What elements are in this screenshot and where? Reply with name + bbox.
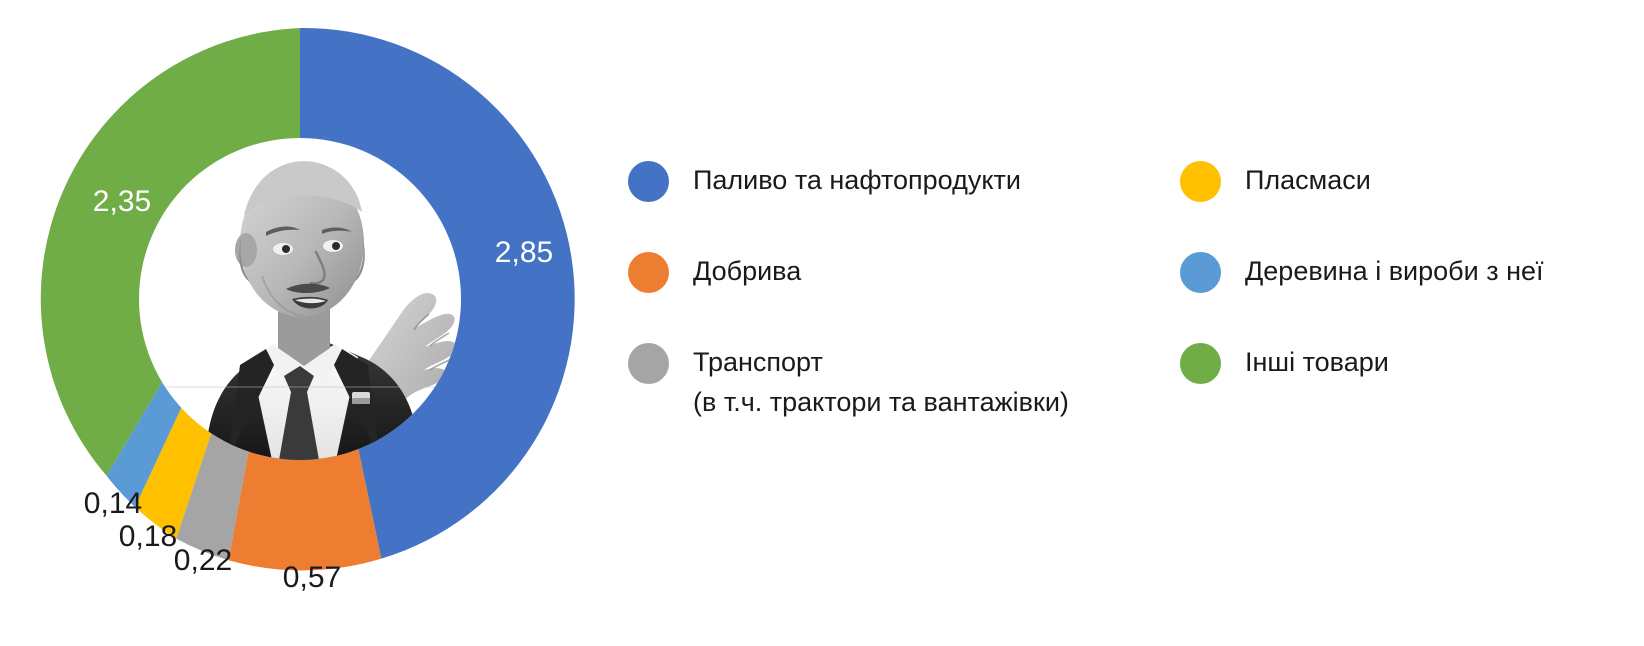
legend-dot-plastics [1180,161,1221,202]
legend-dot-transport [628,343,669,384]
value-label-fuel: 2,85 [495,236,553,269]
legend-item-wood[interactable]: Деревина і вироби з неї [1180,251,1544,293]
legend-item-other[interactable]: Інші товари [1180,342,1389,384]
legend-label-plastics: Пласмаси [1245,160,1371,201]
legend-label-fertilizers: Добрива [693,251,801,292]
chart-legend: Паливо та нафтопродукти Добрива Транспор… [628,150,1638,450]
value-label-other: 2,35 [93,185,151,218]
legend-label-wood: Деревина і вироби з неї [1245,251,1544,292]
legend-dot-other [1180,343,1221,384]
donut-chart: 2,85 2,35 0,57 0,22 0,18 0,14 [0,0,620,646]
value-label-fertilizers: 0,57 [283,561,341,594]
legend-dot-wood [1180,252,1221,293]
legend-item-transport[interactable]: Транспорт (в т.ч. трактори та вантажівки… [628,342,1069,422]
legend-label-fuel: Паливо та нафтопродукти [693,160,1021,201]
value-label-plastics: 0,18 [119,520,177,553]
value-label-wood: 0,14 [84,487,142,520]
value-label-transport: 0,22 [174,544,232,577]
legend-label-transport-line1: Транспорт [693,342,1069,383]
legend-label-other: Інші товари [1245,342,1389,383]
chart-page: 2,85 2,35 0,57 0,22 0,18 0,14 Паливо та … [0,0,1644,646]
legend-label-transport: Транспорт (в т.ч. трактори та вантажівки… [693,342,1069,422]
legend-item-plastics[interactable]: Пласмаси [1180,160,1371,202]
legend-dot-fuel [628,161,669,202]
donut-chart-svg: 2,85 2,35 0,57 0,22 0,18 0,14 [0,0,620,646]
legend-item-fertilizers[interactable]: Добрива [628,251,801,293]
legend-item-fuel[interactable]: Паливо та нафтопродукти [628,160,1021,202]
legend-label-transport-line2: (в т.ч. трактори та вантажівки) [693,383,1069,422]
legend-dot-fertilizers [628,252,669,293]
